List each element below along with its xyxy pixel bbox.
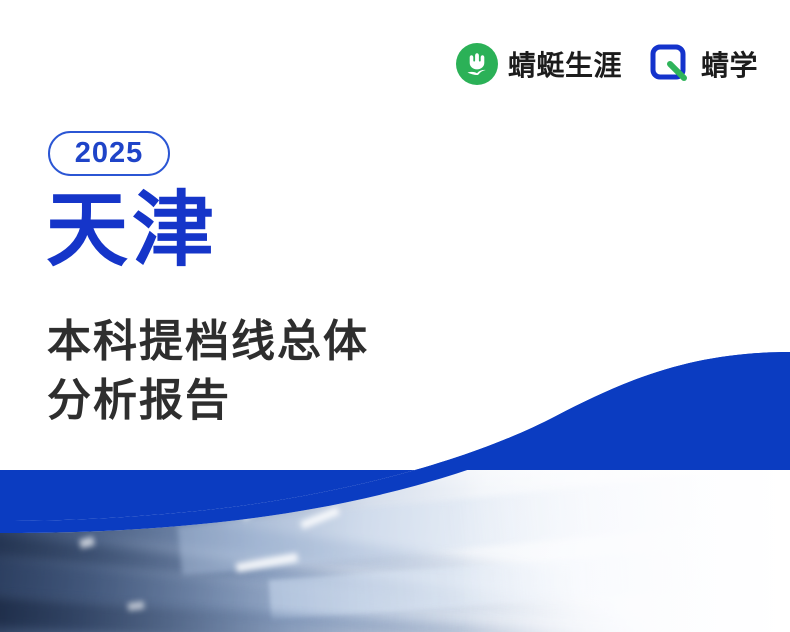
year-badge: 2025	[48, 131, 170, 176]
page-title-city: 天津	[46, 190, 218, 272]
report-cover: 蜻蜓生涯 蜻学 2025 天津 本科提档线总体 分析报告	[0, 0, 790, 632]
brand-dragonfly-career[interactable]: 蜻蜓生涯	[455, 42, 622, 86]
leaf-sprout-icon	[455, 42, 499, 86]
photo-top-fade	[0, 430, 790, 490]
report-subtitle-line-2: 分析报告	[47, 371, 369, 430]
brand-name-label: 蜻蜓生涯	[508, 44, 622, 84]
q-logo-icon	[648, 42, 692, 86]
document-stack-photo	[0, 430, 790, 632]
report-subtitle: 本科提档线总体 分析报告	[47, 312, 369, 431]
brand-lockup: 蜻蜓生涯 蜻学	[455, 42, 758, 86]
brand-qingxue[interactable]: 蜻学	[648, 42, 758, 86]
report-subtitle-line-1: 本科提档线总体	[47, 312, 369, 371]
brand-name-label: 蜻学	[701, 44, 758, 84]
